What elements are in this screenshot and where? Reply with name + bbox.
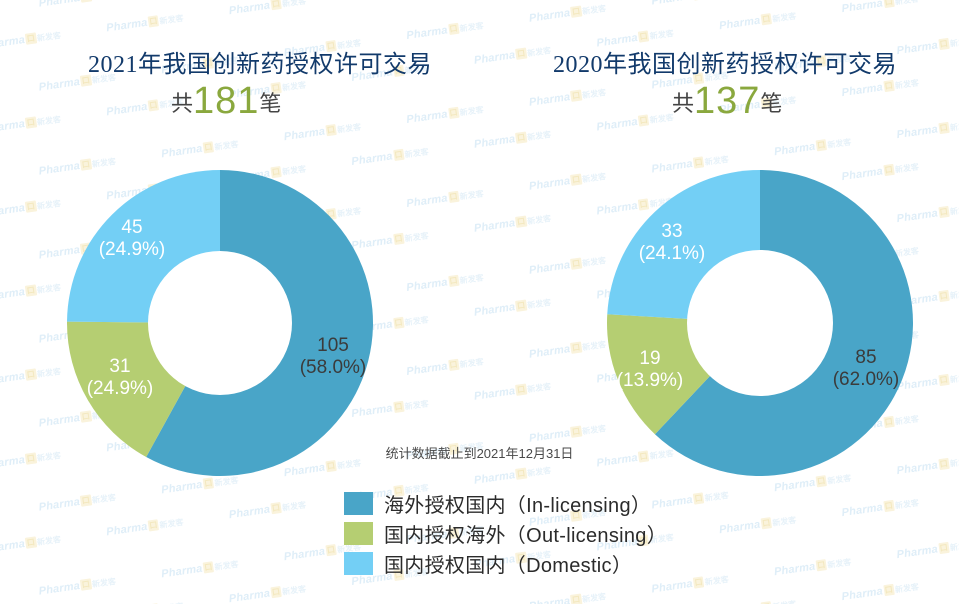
donut-chart-2021	[64, 167, 376, 479]
slice-value: 85	[855, 347, 876, 368]
total-value-2021: 181	[193, 80, 259, 122]
slice-label-2021-out-licensing: 31 (24.9%)	[87, 356, 154, 400]
total-prefix-2021: 共	[171, 91, 193, 116]
total-prefix-2020: 共	[672, 91, 694, 116]
chart-canvas: Pharma口新发客Pharma口新发客Pharma口新发客Pharma口新发客…	[0, 0, 959, 604]
slice-label-2021-domestic: 45 (24.9%)	[99, 217, 166, 261]
slice-value: 19	[639, 348, 660, 369]
slice-label-2020-out-licensing: 19 (13.9%)	[617, 348, 684, 392]
legend-swatch-domestic	[344, 552, 373, 575]
slice-label-2020-domestic: 33 (24.1%)	[639, 221, 706, 265]
legend-swatch-in-licensing	[344, 492, 373, 515]
legend-swatch-out-licensing	[344, 522, 373, 545]
panel-total-2021: 共181笔	[171, 80, 281, 123]
total-suffix-2021: 笔	[259, 91, 281, 116]
donut-chart-2020	[604, 167, 916, 479]
total-value-2020: 137	[694, 80, 760, 122]
slice-value: 33	[661, 221, 682, 242]
slice-percent: (58.0%)	[300, 357, 367, 379]
slice-label-2020-in-licensing: 85 (62.0%)	[833, 347, 900, 391]
legend-item-out-licensing[interactable]: 国内授权海外（Out-licensing）	[344, 521, 667, 546]
slice-percent: (24.9%)	[87, 378, 154, 400]
chart-legend: 海外授权国内（In-licensing） 国内授权海外（Out-licensin…	[344, 491, 667, 576]
legend-label-domestic: 国内授权国内（Domestic）	[384, 549, 632, 578]
panel-total-2020: 共137笔	[672, 80, 782, 123]
legend-item-in-licensing[interactable]: 海外授权国内（In-licensing）	[344, 491, 667, 516]
slice-percent: (62.0%)	[833, 369, 900, 391]
footnote-text: 统计数据截止到2021年12月31日	[0, 443, 959, 462]
panel-title-2021: 2021年我国创新药授权许可交易	[88, 44, 432, 79]
legend-item-domestic[interactable]: 国内授权国内（Domestic）	[344, 551, 667, 576]
slice-label-2021-in-licensing: 105 (58.0%)	[300, 335, 367, 379]
slice-percent: (24.9%)	[99, 239, 166, 261]
slice-value: 105	[317, 335, 349, 356]
slice-value: 31	[109, 356, 130, 377]
total-suffix-2020: 笔	[760, 91, 782, 116]
legend-label-out-licensing: 国内授权海外（Out-licensing）	[384, 519, 667, 548]
panel-title-2020: 2020年我国创新药授权许可交易	[553, 44, 897, 79]
donut-hole-2021	[148, 251, 292, 395]
slice-percent: (13.9%)	[617, 370, 684, 392]
watermark-row: Pharma口新发客Pharma口新发客Pharma口新发客Pharma口新发客…	[0, 0, 959, 30]
slice-value: 45	[121, 217, 142, 238]
slice-percent: (24.1%)	[639, 243, 706, 265]
legend-label-in-licensing: 海外授权国内（In-licensing）	[384, 489, 651, 518]
donut-hole-2020	[687, 250, 833, 396]
